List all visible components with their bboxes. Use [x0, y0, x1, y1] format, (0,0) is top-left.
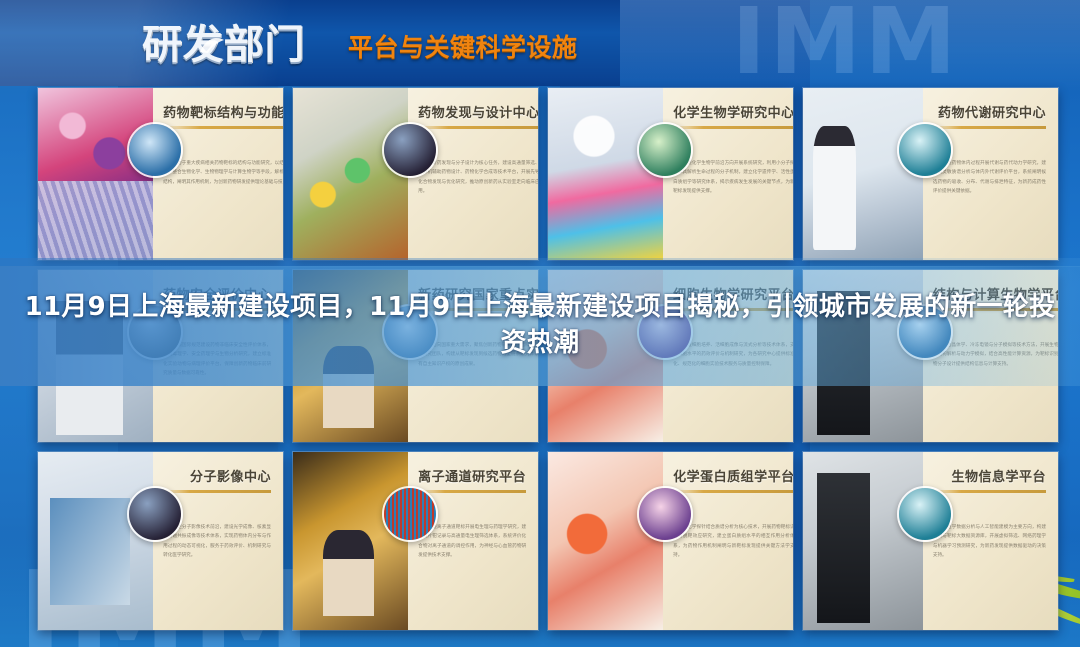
display-panel: 药物靶标结构与功能中心 中心致力于重大疾病相关药物靶标的结构与功能研究，以结构生…: [38, 88, 283, 260]
panel-title: 化学蛋白质组学平台: [673, 466, 793, 485]
panel-body: 药物发现与设计中心 中心以新药发现与分子设计为核心任务，建设高通量筛选、计算机辅…: [408, 88, 538, 260]
panel-body: 生物信息学平台 平台以组学数据分析与人工智能建模为主要方向，构建药物与靶标大数据…: [923, 452, 1058, 630]
panel-bubble-photo: [127, 122, 183, 178]
display-panel: 生物信息学平台 平台以组学数据分析与人工智能建模为主要方向，构建药物与靶标大数据…: [803, 452, 1058, 630]
panel-title: 药物靶标结构与功能中心: [163, 102, 283, 121]
exhibition-wall-photo: IMM IMM 研发部门 平台与关键科学设施 药物靶标结构与功能中心 中心致力于…: [0, 0, 1080, 647]
panel-bubble-photo: [382, 122, 438, 178]
imm-watermark-top: IMM: [732, 0, 960, 88]
panel-photo: [293, 452, 408, 630]
panel-row-1: 药物靶标结构与功能中心 中心致力于重大疾病相关药物靶标的结构与功能研究，以结构生…: [38, 88, 1058, 260]
panel-title: 生物信息学平台: [933, 466, 1046, 485]
panel-photo: [38, 452, 153, 630]
display-panel: 离子通道研究平台 平台围绕离子通道靶标开展电生理与药理学研究，建设膜片钳记录与高…: [293, 452, 538, 630]
panel-bubble-photo: [382, 486, 438, 542]
panel-body: 离子通道研究平台 平台围绕离子通道靶标开展电生理与药理学研究，建设膜片钳记录与高…: [408, 452, 538, 630]
display-panel: 药物代谢研究中心 中心围绕药物体内过程开展代谢与药代动力学研究，建设高灵敏质谱分…: [803, 88, 1058, 260]
institute-logo-icon: [198, 34, 226, 56]
overlay-banner: 11月9日上海最新建设项目，11月9日上海最新建设项目揭秘，引领城市发展的新一轮…: [0, 266, 1080, 386]
panel-bubble-photo: [127, 486, 183, 542]
header-subtitle: 平台与关键科学设施: [348, 28, 578, 64]
display-panel: 分子影像中心 中心立足分子影像技术前沿，建设光学成像、核素显像与磁共振成像等技术…: [38, 452, 283, 630]
panel-title: 药物发现与设计中心: [418, 102, 538, 121]
panel-body: 药物靶标结构与功能中心 中心致力于重大疾病相关药物靶标的结构与功能研究，以结构生…: [153, 88, 283, 260]
panel-body: 分子影像中心 中心立足分子影像技术前沿，建设光学成像、核素显像与磁共振成像等技术…: [153, 452, 283, 630]
panel-bubble-photo: [897, 486, 953, 542]
header-sign: 研发部门 平台与关键科学设施: [0, 0, 620, 86]
header-title: 研发部门: [142, 12, 305, 70]
panel-row-3: 分子影像中心 中心立足分子影像技术前沿，建设光学成像、核素显像与磁共振成像等技术…: [38, 452, 1058, 630]
panel-title: 分子影像中心: [163, 466, 271, 485]
panel-title: 化学生物学研究中心: [673, 102, 793, 121]
panel-bubble-photo: [637, 122, 693, 178]
display-panel: 药物发现与设计中心 中心以新药发现与分子设计为核心任务，建设高通量筛选、计算机辅…: [293, 88, 538, 260]
panel-body: 化学生物学研究中心 中心围绕化学生物学前沿方向开展系统研究，利用小分子探针工具解…: [663, 88, 793, 260]
display-panel: 化学蛋白质组学平台 平台以化学探针结合质谱分析为核心技术，开展药物靶标识别与脱靶…: [548, 452, 793, 630]
panel-title: 药物代谢研究中心: [933, 102, 1046, 121]
panel-photo: [803, 452, 923, 630]
panel-bubble-photo: [637, 486, 693, 542]
panel-photo: [548, 452, 663, 630]
panel-title: 离子通道研究平台: [418, 466, 526, 485]
display-panel: 化学生物学研究中心 中心围绕化学生物学前沿方向开展系统研究，利用小分子探针工具解…: [548, 88, 793, 260]
overlay-headline: 11月9日上海最新建设项目，11月9日上海最新建设项目揭秘，引领城市发展的新一轮…: [20, 290, 1060, 362]
panel-bubble-photo: [897, 122, 953, 178]
panel-body: 化学蛋白质组学平台 平台以化学探针结合质谱分析为核心技术，开展药物靶标识别与脱靶…: [663, 452, 793, 630]
panel-body: 药物代谢研究中心 中心围绕药物体内过程开展代谢与药代动力学研究，建设高灵敏质谱分…: [923, 88, 1058, 260]
